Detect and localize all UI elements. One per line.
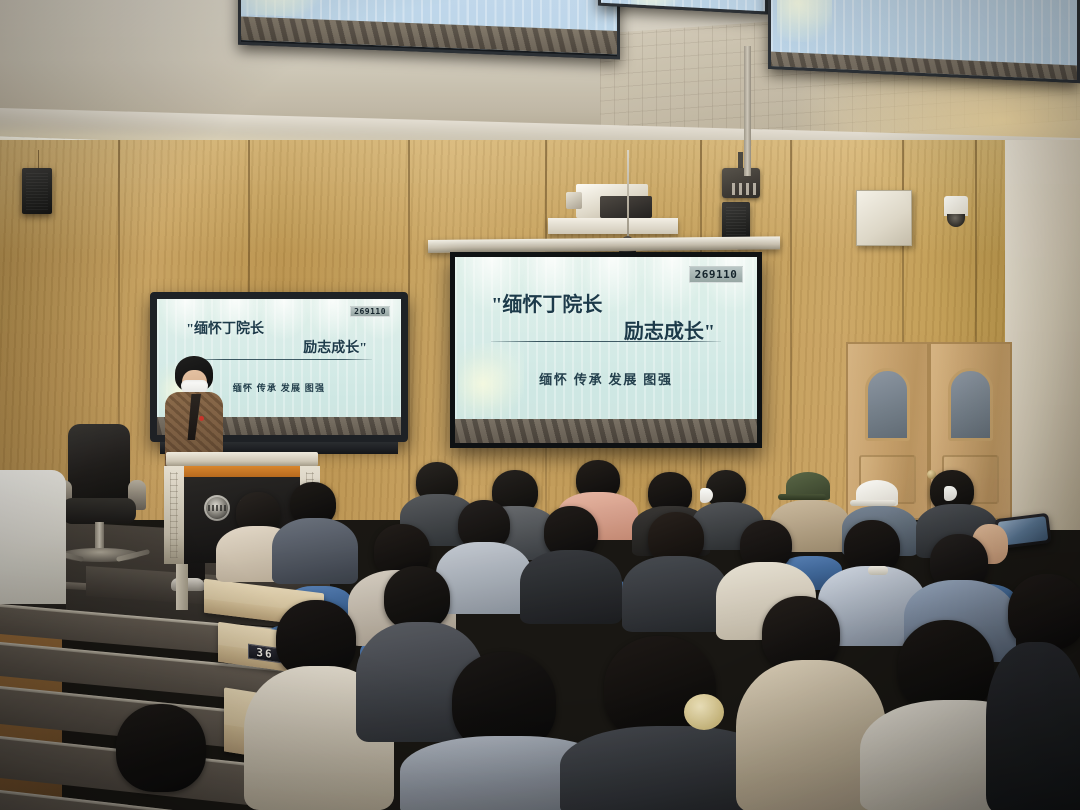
projector-mount-bracket [600, 196, 652, 218]
lectern-side-panel [164, 466, 184, 564]
slide-title-line1: "缅怀丁院长 [491, 294, 602, 316]
chair-seat [62, 498, 136, 524]
main-projection-screen: 269110 "缅怀丁院长 励志成长" 缅怀 传承 发展 图强 [450, 252, 762, 448]
lecture-hall-photo: 缅怀 传承 发展 图强 励志成长" 缅怀 传承 发展 图强 [0, 0, 1080, 810]
audience-head [116, 704, 206, 792]
wall-seam [790, 140, 792, 520]
slide-title: "缅怀丁院长 励志成长" [186, 321, 376, 359]
audience-shoulders [986, 642, 1080, 810]
wall-speaker-left [22, 168, 52, 214]
door-window [948, 368, 992, 441]
camera-body [722, 168, 760, 198]
slide-subtitle: 缅怀 传承 发展 图强 [455, 369, 757, 388]
university-emblem-icon [204, 495, 230, 521]
audience-head [1008, 574, 1080, 650]
wall-seam [408, 140, 410, 520]
dome-security-camera [944, 196, 968, 216]
ceiling-monitor-right: 励志成长" 缅怀 传承 发展 图强 [768, 0, 1080, 83]
right-side-wall [1005, 140, 1080, 530]
audience-shoulders [520, 550, 622, 624]
hair-scrunchie [684, 694, 724, 730]
slide-title-line1: "缅怀丁院长 [186, 322, 264, 337]
slide-floor-graphic [455, 419, 757, 443]
projector-shelf [548, 218, 678, 234]
chair-backrest [68, 424, 130, 502]
lectern-accent-band [184, 466, 300, 477]
chrysanthemum-graphic [777, 0, 832, 43]
slide-title: "缅怀丁院长 励志成长" [491, 292, 727, 346]
microphone-cable [627, 150, 629, 242]
person-shirt [0, 470, 66, 610]
ceiling-camera [718, 160, 764, 218]
camera-control-panel [732, 183, 756, 195]
audience-shoulders [622, 556, 728, 632]
audience-shoulders [272, 518, 358, 584]
door-window [865, 368, 909, 441]
audience-shoulders [436, 542, 532, 614]
audience-head [384, 566, 450, 630]
screen-code-label: 269110 [689, 266, 744, 283]
slide-title-line2: 励志成长" [491, 319, 727, 346]
wall-control-box[interactable] [856, 190, 912, 246]
lectern-top [166, 452, 318, 466]
screen-code-label: 269110 [350, 306, 390, 317]
lapel-badge [199, 416, 204, 421]
projector-lens [566, 192, 582, 209]
hair-clip [868, 566, 888, 575]
monitor-mount-pole [744, 46, 751, 176]
slide-divider [491, 341, 721, 342]
chair-base [60, 548, 140, 562]
